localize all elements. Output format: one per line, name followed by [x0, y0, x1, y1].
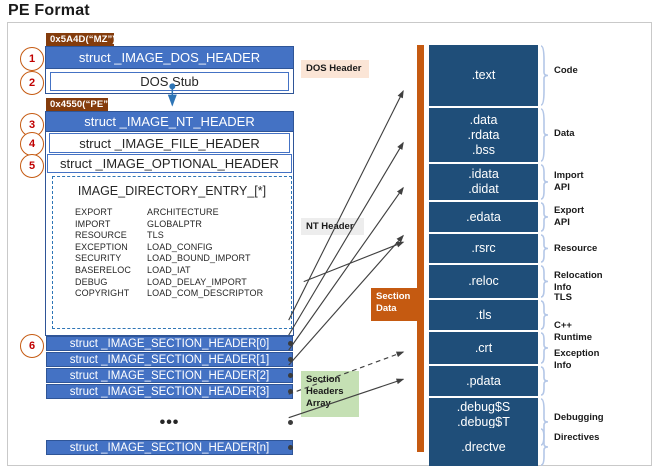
step-marker-4: 4	[20, 132, 44, 156]
directory-entry-left: DEBUG	[75, 277, 147, 289]
magic-tag-mz: 0x5A4D(“MZ”)	[46, 33, 114, 46]
step-marker-2: 2	[20, 71, 44, 95]
magic-tag-pe: 0x4550(“PE”)	[46, 98, 108, 111]
section-block-reloc[interactable]: .reloc	[429, 265, 538, 298]
section-label: Resource	[554, 243, 597, 255]
directory-entry-left: IMPORT	[75, 219, 147, 231]
directory-entry-right: LOAD_COM_DESCRIPTOR	[147, 288, 263, 300]
directory-entry-row: EXPORTARCHITECTURE	[75, 207, 263, 219]
brace-icon	[540, 300, 549, 330]
brace-icon	[540, 202, 549, 232]
brace-icon	[540, 366, 549, 396]
directory-entry-left: SECURITY	[75, 253, 147, 265]
directory-entry-row: COPYRIGHTLOAD_COM_DESCRIPTOR	[75, 288, 263, 300]
step-marker-6: 6	[20, 334, 44, 358]
step-marker-1: 1	[20, 47, 44, 71]
directory-entry-left: BASERELOC	[75, 265, 147, 277]
struct-image-file-header[interactable]: struct _IMAGE_FILE_HEADER	[49, 133, 290, 153]
section-header-row-n[interactable]: struct _IMAGE_SECTION_HEADER[n]	[46, 440, 293, 455]
directory-entry-right: LOAD_BOUND_IMPORT	[147, 253, 263, 265]
section-label: Relocation Info	[554, 270, 603, 294]
section-header-row-0[interactable]: struct _IMAGE_SECTION_HEADER[0]	[46, 336, 293, 351]
directory-entry-left: EXPORT	[75, 207, 147, 219]
callout-section-data: Section Data	[371, 288, 417, 321]
directory-entry-right: ARCHITECTURE	[147, 207, 263, 219]
section-block-data[interactable]: .data .rdata .bss	[429, 108, 538, 162]
brace-icon	[540, 164, 549, 200]
section-block-pdata[interactable]: .pdata	[429, 366, 538, 396]
anchor-dot-0	[288, 341, 293, 346]
struct-image-nt-header[interactable]: struct _IMAGE_NT_HEADER	[45, 111, 294, 132]
section-header-ellipsis: •••	[46, 415, 293, 430]
section-header-row-2[interactable]: struct _IMAGE_SECTION_HEADER[2]	[46, 368, 293, 383]
page-title: PE Format	[8, 2, 90, 20]
directory-entry-row: EXCEPTIONLOAD_CONFIG	[75, 242, 263, 254]
section-block-crt[interactable]: .crt	[429, 332, 538, 364]
brace-icon	[540, 45, 549, 106]
directory-entry-right: LOAD_CONFIG	[147, 242, 263, 254]
section-label: Data	[554, 128, 575, 140]
anchor-dot-n	[288, 445, 293, 450]
directory-entry-right: LOAD_IAT	[147, 265, 263, 277]
dos-stub[interactable]: DOS Stub	[50, 72, 289, 91]
section-header-row-3[interactable]: struct _IMAGE_SECTION_HEADER[3]	[46, 384, 293, 399]
anchor-dot-ellipsis	[288, 420, 293, 425]
callout-section-headers: Section Headers Array	[301, 371, 359, 417]
brace-icon	[540, 332, 549, 364]
section-header-row-1[interactable]: struct _IMAGE_SECTION_HEADER[1]	[46, 352, 293, 367]
anchor-dot-3	[288, 389, 293, 394]
directory-entry-row: IMPORTGLOBALPTR	[75, 219, 263, 231]
section-block-drectve[interactable]: .drectve	[429, 428, 538, 466]
anchor-dot-1	[288, 357, 293, 362]
section-label: Export API	[554, 205, 584, 229]
section-label: Directives	[554, 432, 599, 444]
directory-entry-left: EXCEPTION	[75, 242, 147, 254]
struct-image-dos-header[interactable]: struct _IMAGE_DOS_HEADER	[45, 46, 294, 69]
section-block-text[interactable]: .text	[429, 45, 538, 106]
image-directory-entry-box: IMAGE_DIRECTORY_ENTRY_[*] EXPORTARCHITEC…	[52, 176, 292, 329]
directory-entry-right: LOAD_DELAY_IMPORT	[147, 277, 263, 289]
section-label: Exception Info	[554, 348, 599, 372]
directory-entry-row: DEBUGLOAD_DELAY_IMPORT	[75, 277, 263, 289]
section-block-rsrc[interactable]: .rsrc	[429, 234, 538, 263]
directory-entry-row: BASERELOCLOAD_IAT	[75, 265, 263, 277]
directory-entry-row: SECURITYLOAD_BOUND_IMPORT	[75, 253, 263, 265]
brace-icon	[540, 265, 549, 298]
directory-entry-left: RESOURCE	[75, 230, 147, 242]
section-label: Code	[554, 65, 578, 77]
brace-icon	[540, 108, 549, 162]
callout-nt-header: NT Header	[301, 218, 364, 235]
section-block-idata[interactable]: .idata .didat	[429, 164, 538, 200]
callout-dos-header: DOS Header	[301, 60, 369, 78]
section-label: C++ Runtime	[554, 320, 592, 344]
directory-entry-row: RESOURCETLS	[75, 230, 263, 242]
directory-entry-right: GLOBALPTR	[147, 219, 263, 231]
section-data-spine	[417, 45, 424, 452]
section-block-tls[interactable]: .tls	[429, 300, 538, 330]
directory-entry-right: TLS	[147, 230, 263, 242]
step-marker-5: 5	[20, 154, 44, 178]
directory-entry-left: COPYRIGHT	[75, 288, 147, 300]
section-label: TLS	[554, 292, 572, 304]
anchor-dot-2	[288, 373, 293, 378]
section-label: Debugging	[554, 412, 604, 424]
struct-image-optional-header[interactable]: struct _IMAGE_OPTIONAL_HEADER	[47, 154, 292, 173]
section-block-edata[interactable]: .edata	[429, 202, 538, 232]
brace-icon	[540, 234, 549, 263]
brace-icon	[540, 428, 549, 466]
directory-entry-table: EXPORTARCHITECTUREIMPORTGLOBALPTRRESOURC…	[75, 207, 263, 300]
directory-title: IMAGE_DIRECTORY_ENTRY_[*]	[53, 184, 291, 198]
section-label: Import API	[554, 170, 584, 194]
